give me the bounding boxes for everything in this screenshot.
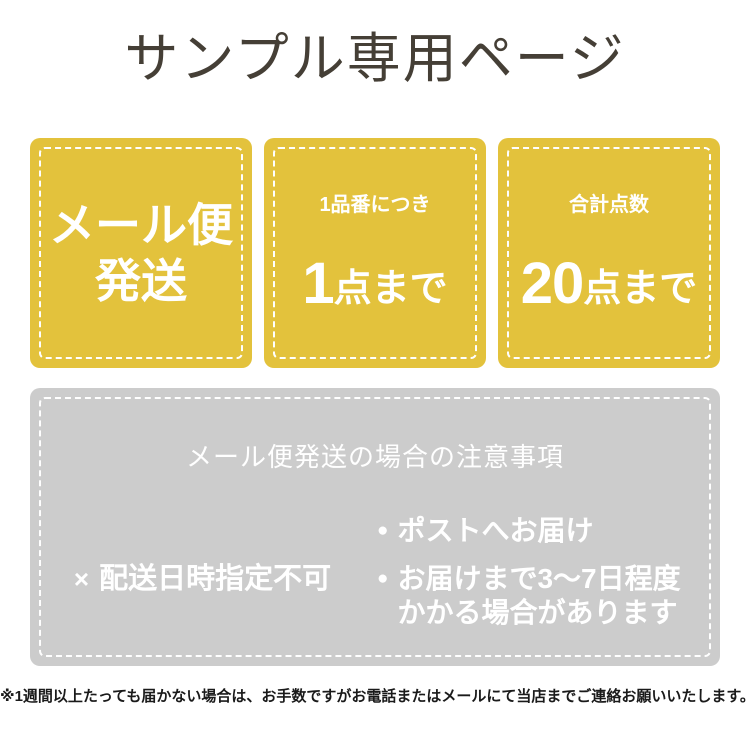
notice-panel-body: ×配送日時指定不可 ● ポストへお届け ● お届けまで3〜7日程度 かかる場合が… (30, 514, 720, 644)
card-total-limit-number: 20 (521, 251, 584, 316)
bullet-dot-icon: ● (377, 514, 388, 548)
list-item: ● お届けまで3〜7日程度 かかる場合があります (377, 562, 720, 630)
card-total-limit-unit: 点まで (583, 268, 697, 310)
cross-mark-icon: × (74, 564, 89, 594)
card-shipping-method-line2: 発送 (30, 253, 252, 309)
notice-bullet-text: お届けまで3〜7日程度 かかる場合があります (397, 562, 680, 630)
notice-restriction: ×配送日時指定不可 (30, 514, 375, 644)
card-per-item-limit-unit: 点まで (334, 268, 448, 310)
highlight-card-row: メール便 発送 1品番につき 1点まで 合計点数 20点まで (30, 138, 720, 368)
card-total-limit-heading: 合計点数 (498, 193, 720, 217)
notice-bullet-line1: ポストへお届け (397, 515, 593, 546)
notice-bullet-line1: お届けまで3〜7日程度 (397, 563, 680, 594)
notice-panel-title: メール便発送の場合の注意事項 (30, 441, 720, 473)
notice-panel: メール便発送の場合の注意事項 ×配送日時指定不可 ● ポストへお届け ● (30, 388, 720, 666)
card-total-limit-content: 合計点数 20点まで (498, 193, 720, 313)
bullet-dot-icon: ● (377, 562, 388, 596)
footnote-text: ※1週間以上たっても届かない場合は、お手数ですがお電話またはメールにて当店までご… (0, 686, 750, 708)
notice-bullet-list: ● ポストへお届け ● お届けまで3〜7日程度 かかる場合があります (375, 514, 720, 630)
card-per-item-limit-heading: 1品番につき (264, 193, 486, 217)
card-shipping-method: メール便 発送 (30, 138, 252, 368)
card-per-item-limit: 1品番につき 1点まで (264, 138, 486, 368)
card-per-item-limit-number: 1 (302, 251, 333, 316)
card-total-limit: 合計点数 20点まで (498, 138, 720, 368)
list-item: ● ポストへお届け (377, 514, 720, 548)
card-shipping-method-content: メール便 発送 (30, 197, 252, 309)
card-total-limit-value: 20点まで (498, 255, 720, 313)
sample-shipping-banner: サンプル専用ページ メール便 発送 1品番につき 1点まで 合計点数 (0, 0, 750, 750)
notice-restriction-label: 配送日時指定不可 (99, 563, 331, 595)
notice-bullet-line2: かかる場合があります (397, 596, 680, 630)
card-per-item-limit-content: 1品番につき 1点まで (264, 193, 486, 313)
card-shipping-method-line1: メール便 (30, 197, 252, 253)
notice-bullet-text: ポストへお届け (397, 514, 593, 548)
page-title: サンプル専用ページ (0, 28, 750, 90)
notice-restriction-row: ×配送日時指定不可 (74, 561, 331, 597)
card-per-item-limit-value: 1点まで (264, 255, 486, 313)
